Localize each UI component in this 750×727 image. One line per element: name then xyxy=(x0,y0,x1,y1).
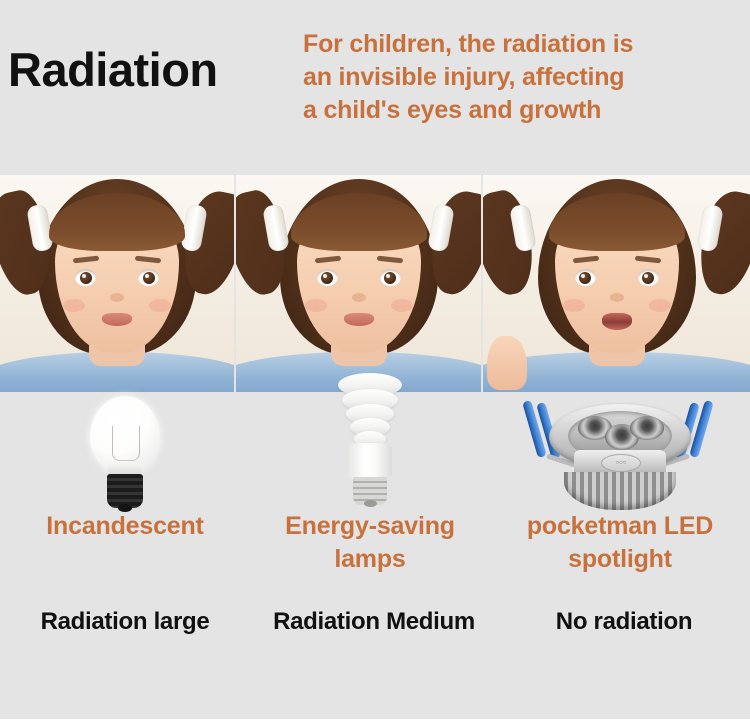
radiation-comparison-poster: Radiation For children, the radiation is… xyxy=(0,0,750,727)
cheek-right xyxy=(649,299,671,312)
headline-line-1: For children, the radiation is xyxy=(303,28,723,61)
radiation-verdict-row: Radiation large Radiation Medium No radi… xyxy=(0,608,750,652)
led-spotlight-icon: ○○○ xyxy=(520,392,720,510)
eye-right xyxy=(380,269,401,286)
cheek-left xyxy=(63,299,85,312)
led-heatsink-fins xyxy=(564,472,676,510)
bulb-screw-base xyxy=(107,474,143,508)
product-cell-incandescent xyxy=(0,392,250,510)
verdict-incandescent: Radiation large xyxy=(0,608,250,636)
bulb-filament xyxy=(112,426,140,461)
bulb-glass xyxy=(90,396,160,472)
nose-shape xyxy=(352,293,366,302)
led-reflector-3 xyxy=(630,416,664,440)
cheek-right xyxy=(149,299,171,312)
headline-line-3: a child's eyes and growth xyxy=(303,94,723,127)
cfl-spiral-lamp-icon xyxy=(333,373,407,508)
product-name-incandescent: Incandescent xyxy=(0,510,250,543)
product-name-led: pocketman LED spotlight xyxy=(490,510,750,576)
led-brand-sticker: ○○○ xyxy=(601,454,641,472)
poster-header: Radiation For children, the radiation is… xyxy=(0,0,750,175)
product-name-led-line-2: spotlight xyxy=(568,545,672,573)
cfl-ballast-body xyxy=(348,443,392,479)
eye-right xyxy=(638,269,659,286)
product-name-led-line-1: pocketman LED xyxy=(527,512,713,540)
cheek-right xyxy=(391,299,413,312)
verdict-led: No radiation xyxy=(498,608,750,636)
nose-shape xyxy=(610,293,624,302)
eye-right xyxy=(138,269,159,286)
child-photo-3 xyxy=(483,175,750,392)
child-photo-2 xyxy=(236,175,481,392)
cheek-left xyxy=(305,299,327,312)
cfl-spiral-tube xyxy=(337,373,403,447)
mouth-shape xyxy=(102,313,132,326)
photo-strip xyxy=(0,175,750,392)
mouth-shape xyxy=(602,313,632,330)
hand-icon xyxy=(487,336,527,390)
cfl-contact-tip xyxy=(364,500,377,507)
product-image-row: ○○○ xyxy=(0,392,750,510)
headline-line-2: an invisible injury, affecting xyxy=(303,61,723,94)
eye-left xyxy=(75,269,96,286)
verdict-cfl: Radiation Medium xyxy=(250,608,498,636)
product-name-cfl-line-2: lamps xyxy=(334,545,405,573)
page-title: Radiation xyxy=(8,46,218,93)
cfl-screw-base xyxy=(353,477,387,505)
cheek-left xyxy=(563,299,585,312)
footer-strip xyxy=(0,719,750,727)
eye-left xyxy=(575,269,596,286)
product-name-cfl: Energy-saving lamps xyxy=(250,510,490,576)
child-photo-1 xyxy=(0,175,234,392)
nose-shape xyxy=(110,293,124,302)
product-name-row: Incandescent Energy-saving lamps pocketm… xyxy=(0,510,750,590)
mouth-shape xyxy=(344,313,374,326)
product-name-cfl-line-1: Energy-saving xyxy=(285,512,455,540)
headline-text: For children, the radiation is an invisi… xyxy=(303,28,723,127)
incandescent-bulb-icon xyxy=(88,396,162,508)
product-cell-cfl xyxy=(250,392,490,510)
product-cell-led: ○○○ xyxy=(490,392,750,510)
eye-left xyxy=(317,269,338,286)
